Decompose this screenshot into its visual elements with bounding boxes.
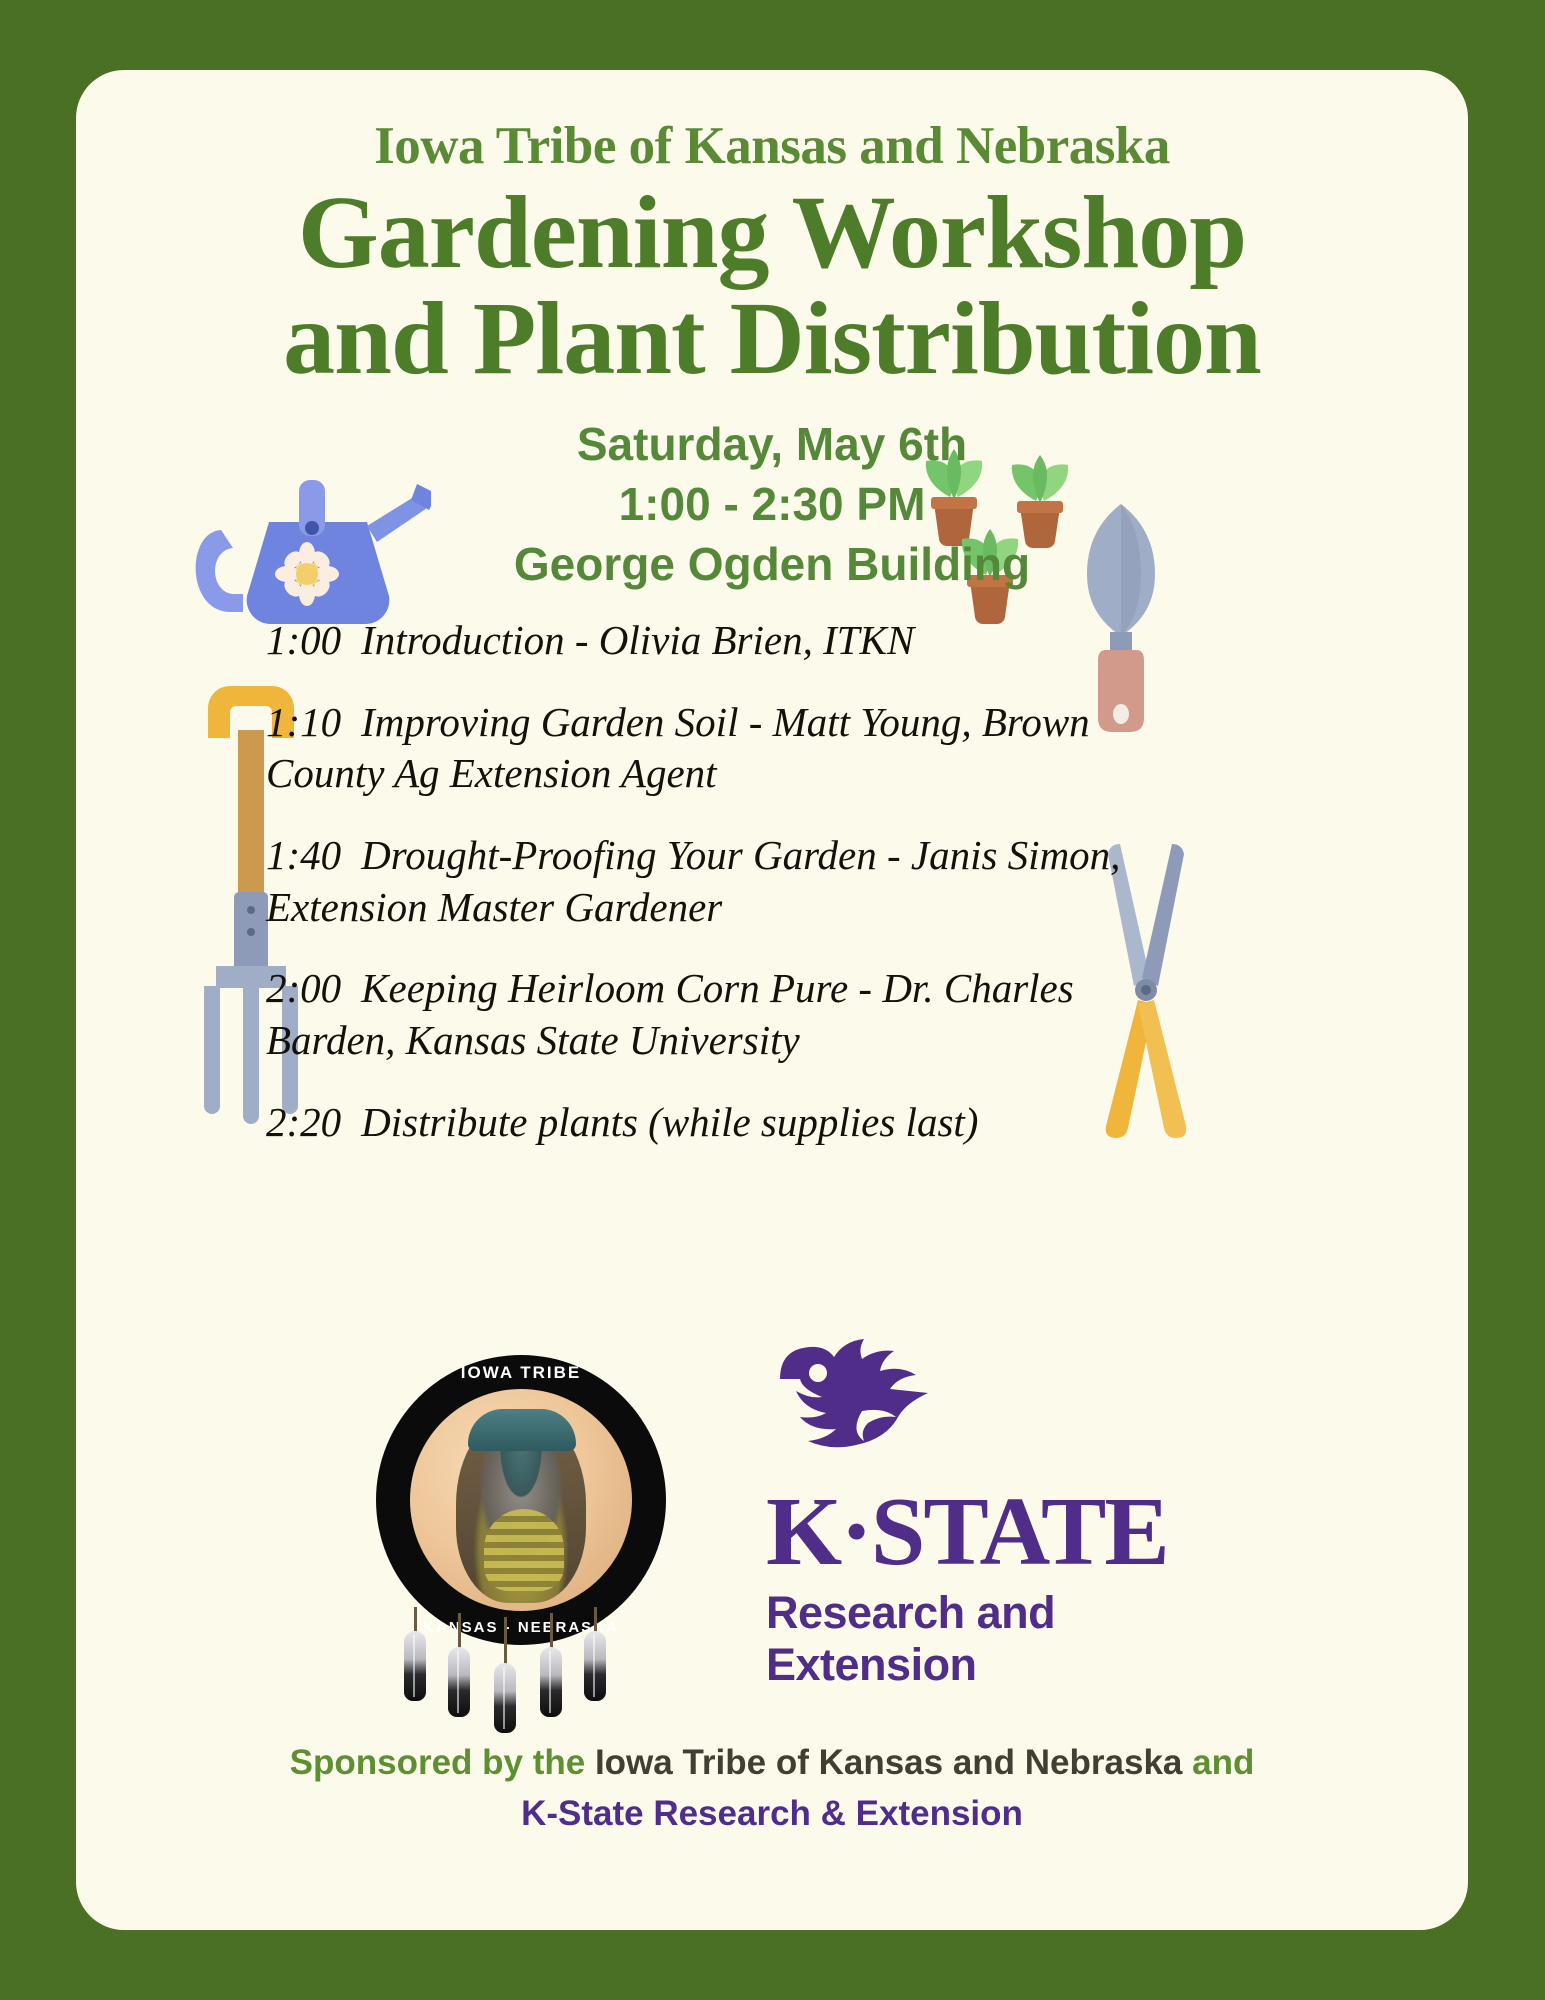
- agenda-text: Distribute plants (while supplies last): [361, 1099, 978, 1145]
- feather-icon: [448, 1647, 470, 1717]
- page-title: Gardening Workshop and Plant Distributio…: [76, 180, 1468, 392]
- agenda-time: 1:00: [266, 617, 341, 663]
- feather-icon: [494, 1663, 516, 1733]
- agenda-item: 2:00Keeping Heirloom Corn Pure - Dr. Cha…: [266, 963, 1146, 1066]
- agenda-item: 1:10Improving Garden Soil - Matt Young, …: [266, 697, 1146, 800]
- agenda-text: Drought-Proofing Your Garden - Janis Sim…: [266, 832, 1120, 930]
- seal-feathers: [384, 1607, 659, 1737]
- feather-icon: [540, 1647, 562, 1717]
- agenda-time: 2:00: [266, 965, 341, 1011]
- agenda-list: 1:00Introduction - Olivia Brien, ITKN 1:…: [266, 615, 1146, 1178]
- poster-card: Iowa Tribe of Kansas and Nebraska Garden…: [76, 70, 1468, 1930]
- iowa-tribe-seal-logo: IOWA TRIBE KANSAS - NEBRASKA: [376, 1355, 666, 1645]
- event-details: Saturday, May 6th 1:00 - 2:30 PM George …: [76, 415, 1468, 594]
- seal-ring-text: IOWA TRIBE KANSAS - NEBRASKA: [376, 1355, 666, 1645]
- agenda-time: 1:40: [266, 832, 341, 878]
- title-line-1: Gardening Workshop: [298, 175, 1246, 290]
- kstate-subtitle: Research and Extension: [766, 1587, 1246, 1691]
- agenda-text: Improving Garden Soil - Matt Young, Brow…: [266, 699, 1090, 797]
- event-date: Saturday, May 6th: [76, 415, 1468, 475]
- sponsor-prefix: Sponsored by the: [290, 1743, 595, 1782]
- sponsor-tribe: Iowa Tribe of Kansas and Nebraska: [595, 1743, 1182, 1782]
- feather-icon: [584, 1631, 606, 1701]
- event-location: George Ogden Building: [76, 535, 1468, 595]
- feather-icon: [404, 1631, 426, 1701]
- kstate-logo: K·STATE Research and Extension: [766, 1335, 1246, 1665]
- sponsor-conjunction: and: [1182, 1743, 1254, 1782]
- agenda-time: 2:20: [266, 1099, 341, 1145]
- organization-name: Iowa Tribe of Kansas and Nebraska: [76, 116, 1468, 176]
- seal-top-text: IOWA TRIBE: [376, 1363, 666, 1383]
- event-time: 1:00 - 2:30 PM: [76, 475, 1468, 535]
- agenda-item: 1:00Introduction - Olivia Brien, ITKN: [266, 615, 1146, 667]
- sponsor-kstate: K-State Research & Extension: [76, 1789, 1468, 1840]
- kstate-wordmark: K·STATE: [766, 1483, 1246, 1581]
- logo-row: IOWA TRIBE KANSAS - NEBRASKA: [76, 1325, 1468, 1725]
- powercat-icon: [766, 1335, 976, 1475]
- title-line-2: and Plant Distribution: [76, 286, 1468, 392]
- sponsor-text: Sponsored by the Iowa Tribe of Kansas an…: [76, 1738, 1468, 1840]
- agenda-text: Introduction - Olivia Brien, ITKN: [361, 617, 914, 663]
- agenda-item: 1:40Drought-Proofing Your Garden - Janis…: [266, 830, 1146, 933]
- agenda-text: Keeping Heirloom Corn Pure - Dr. Charles…: [266, 965, 1074, 1063]
- agenda-item: 2:20Distribute plants (while supplies la…: [266, 1097, 1146, 1149]
- agenda-time: 1:10: [266, 699, 341, 745]
